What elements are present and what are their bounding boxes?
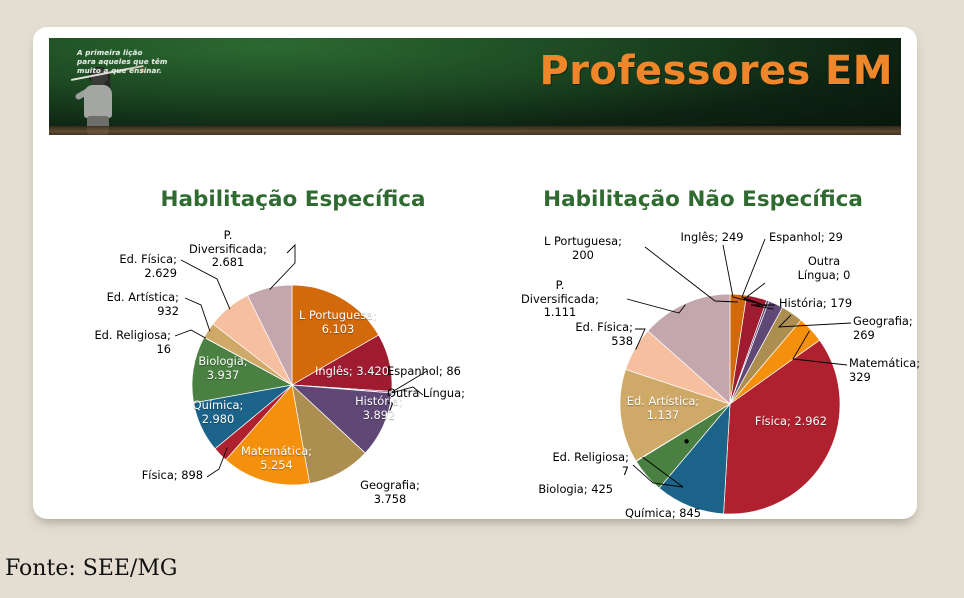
leader-line xyxy=(175,330,206,338)
pie-slice-label: Química; 2.980 xyxy=(167,399,269,426)
pie-slice-label: P. Diversificada; 1.111 xyxy=(497,279,623,320)
pie-slice-label: Geografia; 3.758 xyxy=(335,479,445,506)
pie-slice-label: Física; 898 xyxy=(93,469,203,483)
pie-slice-label: Ed. Religiosa; 7 xyxy=(511,451,629,478)
pie-chart-habilitacao-nao-especifica: L Portuguesa; 200Inglês; 249Espanhol; 29… xyxy=(493,217,917,517)
chart-title-right: Habilitação Não Específica xyxy=(503,187,903,212)
pie-slice-label: Ed. Religiosa; 16 xyxy=(53,329,171,356)
pie-slice-label: Matemática; 5.254 xyxy=(219,445,334,472)
source-note: Fonte: SEE/MG xyxy=(5,556,177,581)
pie-slice-label: Ed. Física; 2.629 xyxy=(63,253,177,280)
pie-slice-label: Biologia; 425 xyxy=(495,483,613,497)
pie-slice-label: História; 3.892 xyxy=(329,395,429,422)
banner-floor xyxy=(49,126,901,135)
pie-slice-label: Inglês; 249 xyxy=(657,231,767,245)
pie-slice-label: Matemática; 329 xyxy=(849,357,949,384)
pie-slice-label: L Portuguesa; 6.103 xyxy=(279,309,397,336)
pie-chart-habilitacao-especifica: L Portuguesa; 6.103Inglês; 3.420Espanhol… xyxy=(69,217,489,517)
leader-line xyxy=(645,247,738,302)
pie-slice-label: Ed. Artística; 1.137 xyxy=(603,395,723,422)
chalkboard-text: A primeira lição para aqueles que têm mu… xyxy=(77,48,167,75)
pie-slice-label: Outra Língua; 0 xyxy=(771,255,877,282)
banner-title: Professores EM xyxy=(540,49,893,93)
pie-slice-label: Espanhol; 29 xyxy=(769,231,879,245)
pie-slice-label: Química; 845 xyxy=(603,507,723,521)
pie-slice-label: Física; 2.962 xyxy=(731,415,851,429)
pie-slice-label: História; 179 xyxy=(779,297,891,311)
pie-slice-label: P. Diversificada; 2.681 xyxy=(173,229,283,270)
pie-slice-label: Ed. Física; 538 xyxy=(517,321,633,348)
slide-panel: A primeira lição para aqueles que têm mu… xyxy=(33,27,917,519)
leader-line xyxy=(185,298,210,331)
pie-slice-label: Espanhol; 86 xyxy=(387,365,497,379)
pie-slice-label: L Portuguesa; 200 xyxy=(523,235,643,262)
pie-slice-label: Biologia; 3.937 xyxy=(171,355,275,382)
pie-slice-label: Geografia; 269 xyxy=(853,315,949,342)
chart-title-left: Habilitação Específica xyxy=(93,187,493,212)
pie-slice-label: Ed. Artística; 932 xyxy=(61,291,179,318)
selection-dot-icon xyxy=(684,439,688,443)
